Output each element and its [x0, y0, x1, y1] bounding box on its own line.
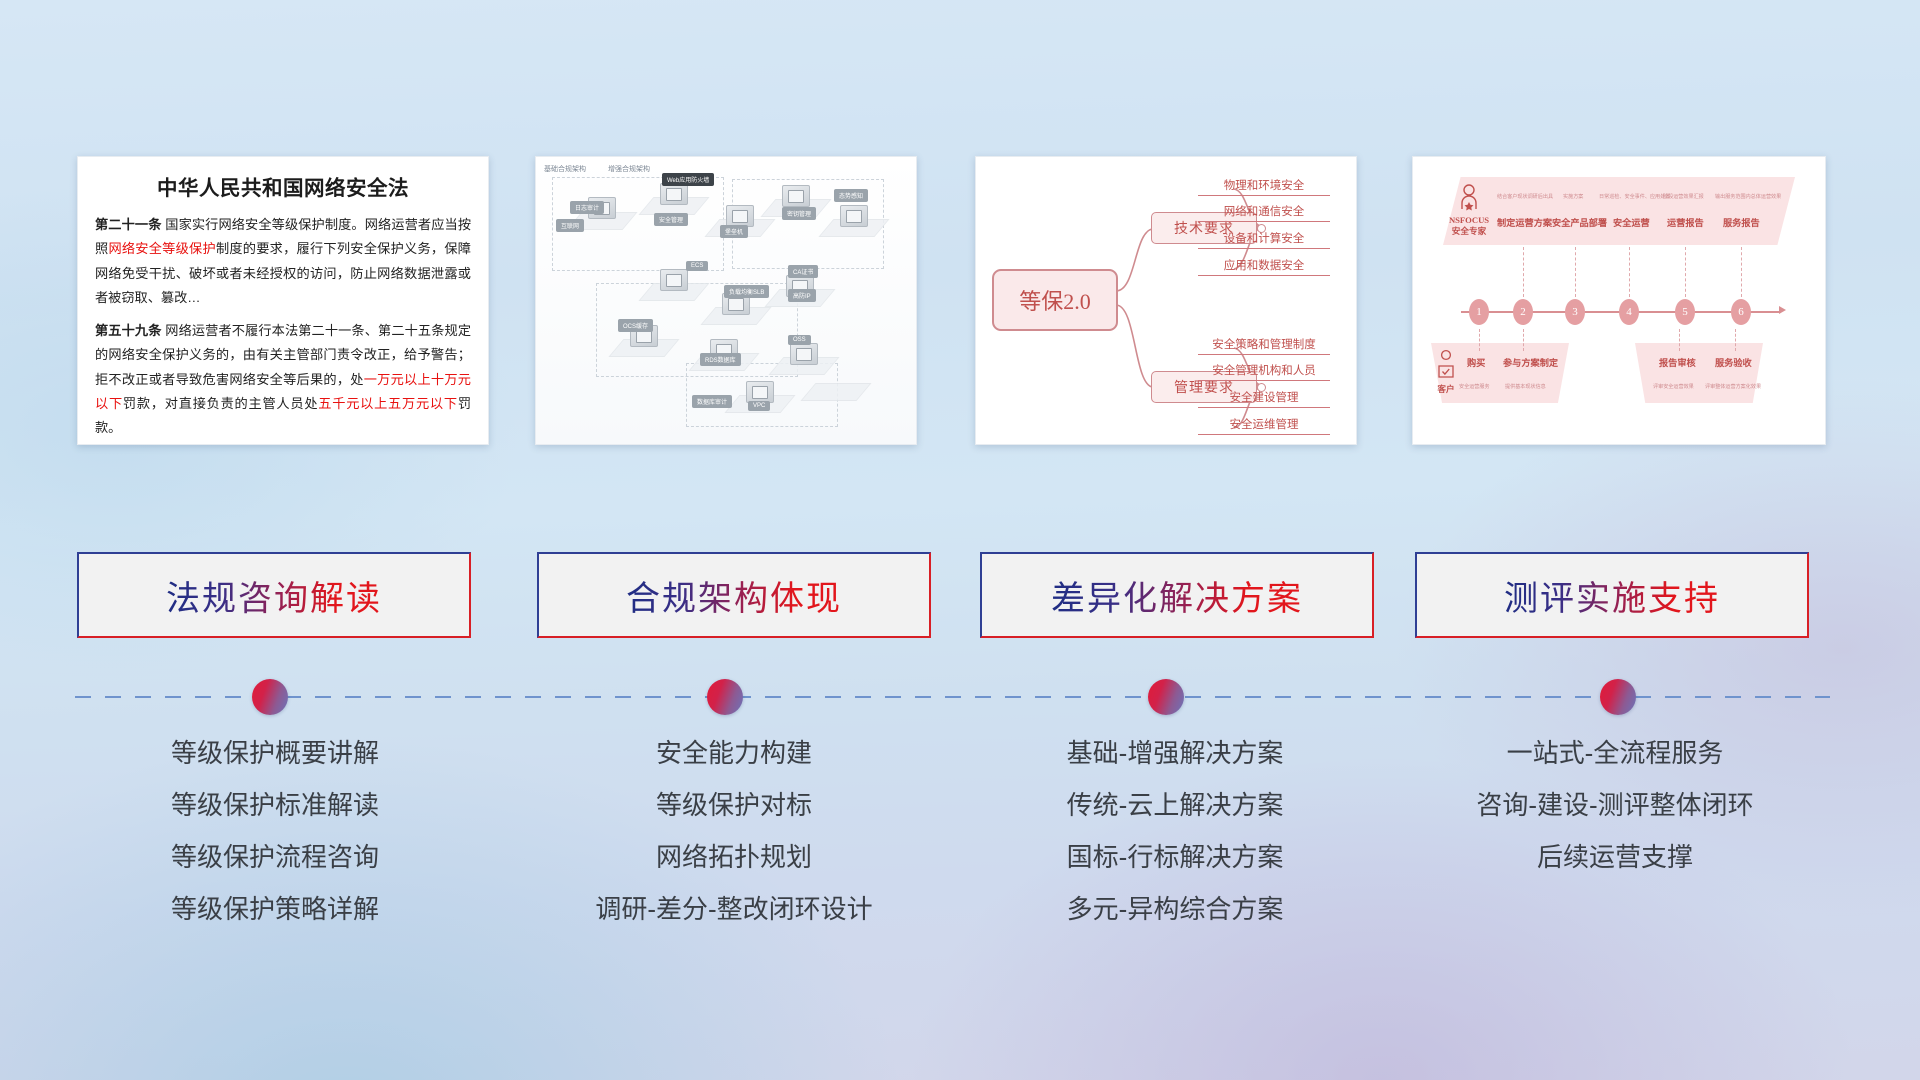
- arch-node-situation: [840, 205, 868, 227]
- law-article-21: 第二十一条 国家实行网络安全等级保护制度。网络运营者应当按照网络安全等级保护制度…: [95, 213, 471, 311]
- banner-label-1: 法规咨询解读: [166, 571, 382, 620]
- customer-sub-2: 提供基本现状信息: [1505, 383, 1546, 390]
- timeline-title-4: 安全运营: [1613, 215, 1650, 229]
- bullet-column-4: 一站式-全流程服务 咨询-建设-测评整体闭环 后续运营支撑: [1405, 740, 1825, 896]
- list-item: 一站式-全流程服务: [1405, 740, 1825, 766]
- timeline-title-3: 安全产品部署: [1552, 215, 1607, 229]
- list-item: 调研-差分-整改闭环设计: [524, 896, 944, 922]
- article-59-highlight-2: 五千元以上五万元以下: [318, 396, 458, 411]
- architecture-card: 基础合规架构 增强合规架构: [535, 156, 917, 445]
- arch-node-oss: [790, 343, 818, 365]
- banner-label-4: 测评实施支持: [1504, 571, 1720, 620]
- article-21-number: 第二十一条: [95, 217, 162, 232]
- law-card-title: 中华人民共和国网络安全法: [95, 171, 471, 201]
- arch-tag-situation: 态势感知: [834, 189, 868, 202]
- law-card-body: 中华人民共和国网络安全法 第二十一条 国家实行网络安全等级保护制度。网络运营者应…: [78, 157, 488, 444]
- arch-tag-log-audit: 日志审计: [570, 201, 604, 214]
- expert-role-label: NSFOCUS 安全专家: [1441, 215, 1497, 236]
- mindmap-card: 等保2.0 技术要求 物理和环境安全 网络和通信安全 设备和计算安全 应用和数据…: [975, 156, 1357, 445]
- banner-regulation-consulting[interactable]: 法规咨询解读: [77, 552, 471, 638]
- slide-canvas: 中华人民共和国网络安全法 第二十一条 国家实行网络安全等级保护制度。网络运营者应…: [0, 0, 1920, 1080]
- timeline-node-2[interactable]: [707, 679, 743, 715]
- illustration-card-row: 中华人民共和国网络安全法 第二十一条 国家实行网络安全等级保护制度。网络运营者应…: [0, 0, 1920, 460]
- mindmap-leaf-tech-3: 设备和计算安全: [1198, 230, 1330, 249]
- mindmap-leaf-mgmt-1: 安全策略和管理制度: [1198, 336, 1330, 355]
- list-item: 等级保护概要讲解: [65, 740, 485, 766]
- timeline-step-1: 1: [1469, 299, 1489, 325]
- timeline-step-3: 3: [1565, 299, 1585, 325]
- customer-sub-1: 安全运营服务: [1459, 383, 1490, 390]
- banner-assessment-support[interactable]: 测评实施支持: [1415, 552, 1809, 638]
- banner-compliance-architecture[interactable]: 合规架构体现: [537, 552, 931, 638]
- arch-tag-vpc: VPC: [748, 401, 770, 411]
- timeline-node-3[interactable]: [1148, 679, 1184, 715]
- arch-tag-bastion: 堡垒机: [720, 225, 748, 238]
- banner-label-3: 差异化解决方案: [1051, 571, 1303, 620]
- list-item: 多元-异构综合方案: [965, 896, 1385, 922]
- service-timeline-diagram: NSFOCUS 安全专家 客户 1 2 3 4 5 6: [1413, 157, 1825, 444]
- timeline-sub-2: 结合客户现状调研后出具: [1497, 193, 1553, 200]
- banner-label-2: 合规架构体现: [626, 571, 842, 620]
- customer-sub-4: 评审整体运营方案化效果: [1705, 383, 1761, 390]
- timeline-step-2: 2: [1513, 299, 1533, 325]
- list-item: 网络拓扑规划: [524, 844, 944, 870]
- list-item: 等级保护流程咨询: [65, 844, 485, 870]
- list-item: 安全能力构建: [524, 740, 944, 766]
- customer-title-4: 服务验收: [1715, 355, 1752, 369]
- mindmap-leaf-mgmt-2: 安全管理机构和人员: [1198, 362, 1330, 381]
- arch-header-basic: 基础合规架构: [544, 164, 586, 174]
- mindmap-leaf-tech-2: 网络和通信安全: [1198, 203, 1330, 222]
- banner-differentiated-solution[interactable]: 差异化解决方案: [980, 552, 1374, 638]
- service-timeline-card: NSFOCUS 安全专家 客户 1 2 3 4 5 6: [1412, 156, 1826, 445]
- timeline-dashed-line: [75, 696, 1830, 698]
- arch-tag-slb: 负载均衡SLB: [724, 285, 769, 298]
- list-item: 传统-云上解决方案: [965, 792, 1385, 818]
- article-59-number: 第五十九条: [95, 323, 162, 338]
- timeline-bottom-band-right: [1635, 343, 1763, 403]
- list-item: 基础-增强解决方案: [965, 740, 1385, 766]
- timeline-sub-5: 阶段运营效果汇报: [1663, 193, 1704, 200]
- arch-node-bastion: [726, 205, 754, 227]
- architecture-diagram: 基础合规架构 增强合规架构: [536, 157, 916, 444]
- timeline-title-5: 运营报告: [1667, 215, 1704, 229]
- customer-sub-3: 评审安全运营效果: [1653, 383, 1694, 390]
- arch-tag-security-mgmt: 安全管理: [654, 213, 688, 226]
- bullet-column-2: 安全能力构建 等级保护对标 网络拓扑规划 调研-差分-整改闭环设计: [524, 740, 944, 948]
- timeline-step-6: 6: [1731, 299, 1751, 325]
- customer-avatar-icon: [1435, 349, 1457, 381]
- arch-node-vpc: [746, 381, 774, 403]
- timeline-arrow-head: [1779, 306, 1786, 314]
- timeline-sub-6: 输出服务范围内总体运营效果: [1715, 193, 1781, 200]
- timeline-title-2: 制定运营方案: [1497, 215, 1552, 229]
- customer-title-3: 报告审核: [1659, 355, 1696, 369]
- law-card: 中华人民共和国网络安全法 第二十一条 国家实行网络安全等级保护制度。网络运营者应…: [77, 156, 489, 445]
- mindmap-root-node: 等保2.0: [992, 269, 1118, 331]
- timeline-sub-4: 日常巡检、安全事件、应用处置: [1599, 193, 1670, 200]
- timeline-node-1[interactable]: [252, 679, 288, 715]
- expert-avatar-icon: [1457, 183, 1481, 217]
- list-item: 国标-行标解决方案: [965, 844, 1385, 870]
- timeline-title-6: 服务报告: [1723, 215, 1760, 229]
- list-item: 后续运营支撑: [1405, 844, 1825, 870]
- arch-tag-db-audit: 数据库审计: [692, 395, 732, 408]
- arch-tag-gaofang-ip: 高防IP: [788, 289, 816, 302]
- article-59-mid: 罚款，对直接负责的主管人员处: [123, 396, 318, 411]
- mindmap-leaf-tech-1: 物理和环境安全: [1198, 177, 1330, 196]
- arch-node-secmgmt: [660, 183, 688, 205]
- timeline-sub-3: 实施方案: [1563, 193, 1583, 200]
- bullet-column-3: 基础-增强解决方案 传统-云上解决方案 国标-行标解决方案 多元-异构综合方案: [965, 740, 1385, 948]
- list-item: 等级保护标准解读: [65, 792, 485, 818]
- timeline-node-4[interactable]: [1600, 679, 1636, 715]
- arch-tag-ocs: OCS缓存: [618, 319, 653, 332]
- mindmap-leaf-mgmt-4: 安全运维管理: [1198, 416, 1330, 435]
- bullet-column-1: 等级保护概要讲解 等级保护标准解读 等级保护流程咨询 等级保护策略详解: [65, 740, 485, 948]
- customer-role-label: 客户: [1431, 383, 1461, 395]
- arch-tag-ecs: ECS: [686, 261, 708, 271]
- customer-title-1: 购买: [1467, 355, 1485, 369]
- list-item: 等级保护对标: [524, 792, 944, 818]
- arch-tag-internet: 互联网: [556, 219, 584, 232]
- article-21-highlight: 网络安全等级保护: [108, 241, 216, 256]
- list-item: 等级保护策略详解: [65, 896, 485, 922]
- arch-tag-ca: CA证书: [788, 265, 818, 278]
- arch-tag-waf: Web应用防火墙: [662, 173, 714, 186]
- list-item: 咨询-建设-测评整体闭环: [1405, 792, 1825, 818]
- law-article-59: 第五十九条 网络运营者不履行本法第二十一条、第二十五条规定的网络安全保护义务的，…: [95, 319, 471, 441]
- mindmap-diagram: 等保2.0 技术要求 物理和环境安全 网络和通信安全 设备和计算安全 应用和数据…: [976, 157, 1356, 444]
- arch-tag-kms: 密钥管理: [782, 207, 816, 220]
- arch-header-enhanced: 增强合规架构: [608, 164, 650, 174]
- timeline-step-5: 5: [1675, 299, 1695, 325]
- customer-title-2: 参与方案制定: [1503, 355, 1558, 369]
- arch-tag-oss: OSS: [788, 335, 811, 345]
- arch-node-ecs: [660, 269, 688, 291]
- timeline-step-4: 4: [1619, 299, 1639, 325]
- mindmap-leaf-mgmt-3: 安全建设管理: [1198, 389, 1330, 408]
- mindmap-leaf-tech-4: 应用和数据安全: [1198, 257, 1330, 276]
- arch-tag-rds: RDS数据库: [700, 353, 741, 366]
- arch-node-kms: [782, 185, 810, 207]
